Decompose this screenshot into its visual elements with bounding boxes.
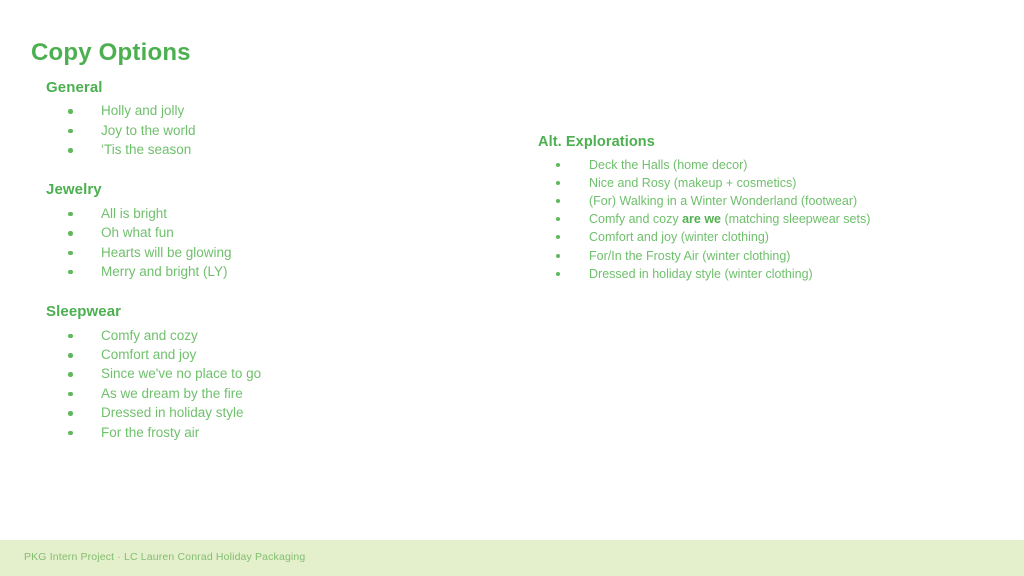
page-title: Copy Options [31, 39, 191, 68]
list-item-text: Comfy and cozy [589, 212, 682, 226]
bullet-dot-icon [68, 353, 73, 358]
list-item: Dressed in holiday style [46, 403, 466, 422]
list-item-text: Dressed in holiday style [101, 405, 244, 420]
bullet-dot-icon [68, 148, 73, 153]
list-item-text: Nice and Rosy (makeup + cosmetics) [589, 176, 796, 190]
section-jewelry: JewelryAll is brightOh what funHearts wi… [46, 180, 466, 281]
bullet-dot-icon [68, 411, 73, 416]
bullet-list: Holly and jollyJoy to the world‘Tis the … [46, 101, 466, 159]
bullet-dot-icon [556, 181, 560, 185]
section-alt-explorations: Alt. ExplorationsDeck the Halls (home de… [538, 133, 978, 283]
list-item-text: As we dream by the fire [101, 386, 243, 401]
list-item: Comfort and joy (winter clothing) [538, 228, 978, 246]
bullet-list: Deck the Halls (home decor)Nice and Rosy… [538, 156, 978, 283]
list-item-text: Holly and jolly [101, 103, 184, 118]
list-item: Since we've no place to go [46, 364, 466, 383]
list-item: Nice and Rosy (makeup + cosmetics) [538, 174, 978, 192]
bullet-dot-icon [68, 334, 73, 339]
bullet-dot-icon [556, 217, 560, 221]
list-item-text: Dressed in holiday style (winter clothin… [589, 267, 813, 281]
list-item-text: For/In the Frosty Air (winter clothing) [589, 249, 790, 263]
list-item-text: Comfort and joy (winter clothing) [589, 230, 769, 244]
section-heading: Sleepwear [46, 302, 466, 322]
section-heading: General [46, 78, 466, 98]
bullet-dot-icon [68, 270, 73, 275]
list-item: For the frosty air [46, 423, 466, 442]
list-item-text: Merry and bright (LY) [101, 264, 228, 279]
list-item: Hearts will be glowing [46, 243, 466, 262]
list-item-text: Oh what fun [101, 225, 174, 240]
bullet-dot-icon [556, 235, 560, 239]
bullet-list: Comfy and cozyComfort and joySince we've… [46, 326, 466, 442]
list-item: Holly and jolly [46, 101, 466, 120]
list-item: Comfy and cozy [46, 326, 466, 345]
list-item-text: Comfy and cozy [101, 328, 198, 343]
bullet-dot-icon [68, 372, 73, 377]
bullet-dot-icon [556, 272, 560, 276]
list-item-text: ‘Tis the season [101, 142, 191, 157]
bullet-list: All is brightOh what funHearts will be g… [46, 204, 466, 282]
list-item: Oh what fun [46, 223, 466, 242]
list-item-text: Hearts will be glowing [101, 245, 232, 260]
section-general: GeneralHolly and jollyJoy to the world‘T… [46, 78, 466, 159]
list-item: Dressed in holiday style (winter clothin… [538, 265, 978, 283]
bullet-dot-icon [556, 163, 560, 167]
list-item: (For) Walking in a Winter Wonderland (fo… [538, 192, 978, 210]
bullet-dot-icon [68, 109, 73, 114]
list-item: Comfy and cozy are we (matching sleepwea… [538, 210, 978, 228]
bullet-dot-icon [68, 231, 73, 236]
list-item-text: Deck the Halls (home decor) [589, 158, 747, 172]
list-item-text: (For) Walking in a Winter Wonderland (fo… [589, 194, 857, 208]
left-column: GeneralHolly and jollyJoy to the world‘T… [46, 78, 466, 442]
list-item: Merry and bright (LY) [46, 262, 466, 281]
list-item-text: Since we've no place to go [101, 366, 261, 381]
list-item: Joy to the world [46, 121, 466, 140]
list-item-text: All is bright [101, 206, 167, 221]
list-item-text: Comfort and joy [101, 347, 196, 362]
bullet-dot-icon [556, 254, 560, 258]
bullet-dot-icon [68, 392, 73, 397]
list-item: As we dream by the fire [46, 384, 466, 403]
section-heading: Alt. Explorations [538, 133, 978, 153]
list-item-text: For the frosty air [101, 425, 199, 440]
bullet-dot-icon [68, 431, 73, 436]
right-column: Alt. ExplorationsDeck the Halls (home de… [538, 133, 978, 283]
list-item: Comfort and joy [46, 345, 466, 364]
footer-caption: PKG Intern Project · LC Lauren Conrad Ho… [24, 551, 305, 563]
list-item-emphasis: are we [682, 212, 721, 226]
bullet-dot-icon [68, 251, 73, 256]
section-heading: Jewelry [46, 180, 466, 200]
bullet-dot-icon [556, 199, 560, 203]
footer-band: PKG Intern Project · LC Lauren Conrad Ho… [0, 540, 1024, 576]
list-item: ‘Tis the season [46, 140, 466, 159]
section-sleepwear: SleepwearComfy and cozyComfort and joySi… [46, 302, 466, 442]
list-item: All is bright [46, 204, 466, 223]
list-item-text-suffix: (matching sleepwear sets) [721, 212, 870, 226]
list-item-text: Joy to the world [101, 123, 196, 138]
list-item: Deck the Halls (home decor) [538, 156, 978, 174]
list-item: For/In the Frosty Air (winter clothing) [538, 247, 978, 265]
bullet-dot-icon [68, 129, 73, 134]
slide-canvas: Copy Options GeneralHolly and jollyJoy t… [0, 0, 1024, 576]
canvas-right-edge [1022, 0, 1023, 540]
bullet-dot-icon [68, 212, 73, 217]
